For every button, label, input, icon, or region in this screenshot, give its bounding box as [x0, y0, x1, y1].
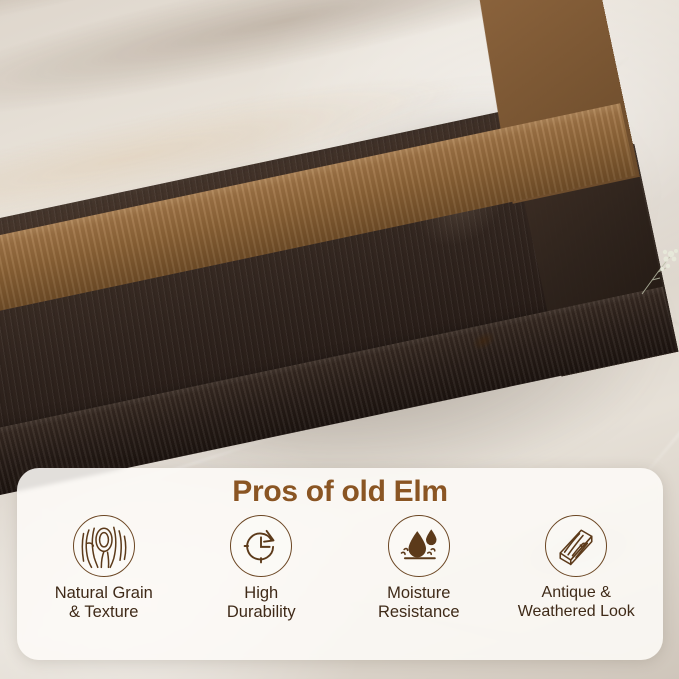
wood-grain-icon: [73, 515, 135, 577]
feature-high-durability[interactable]: High Durability: [183, 515, 341, 622]
wood-plank-icon: [545, 515, 607, 577]
pros-info-card: Pros of old Elm Natural Grain &: [17, 468, 663, 660]
feature-label: Natural Grain & Texture: [55, 584, 153, 622]
dried-sprig: [638, 246, 679, 298]
feature-label: Antique & Weathered Look: [518, 584, 635, 621]
feature-antique-weathered-look[interactable]: Antique & Weathered Look: [498, 515, 656, 622]
card-title: Pros of old Elm: [232, 475, 448, 509]
feature-moisture-resistance[interactable]: Moisture Resistance: [340, 515, 498, 622]
water-droplet-icon: [388, 515, 450, 577]
feature-label: High Durability: [227, 584, 296, 622]
feature-list: Natural Grain & Texture High Durability: [17, 515, 663, 622]
feature-natural-grain[interactable]: Natural Grain & Texture: [25, 515, 183, 622]
clock-refresh-icon: [230, 515, 292, 577]
feature-label: Moisture Resistance: [378, 584, 460, 622]
